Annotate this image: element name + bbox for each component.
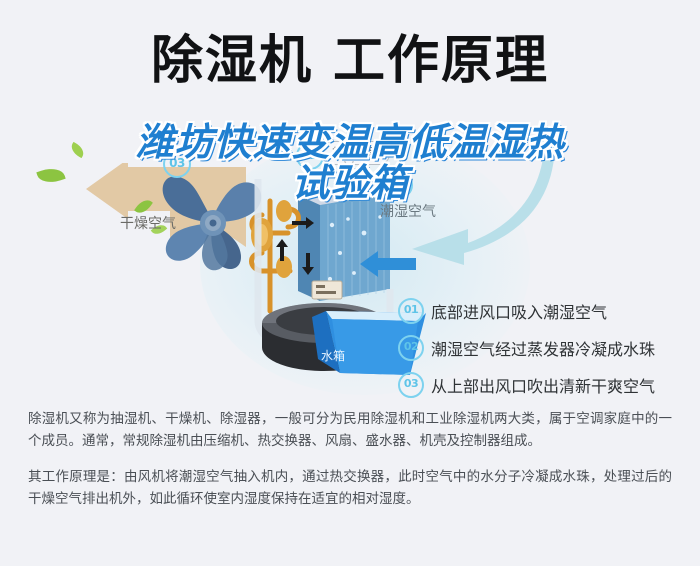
water-tank-label: 水箱 <box>321 347 345 364</box>
step-legend: 01 底部进风口吸入潮湿空气 02 潮湿空气经过蒸发器冷凝成水珠 03 从上部出… <box>398 292 698 403</box>
step-badge-03: 03 <box>163 150 191 178</box>
body-copy: 除湿机又称为抽湿机、干燥机、除湿器，一般可分为民用除湿机和工业除湿机两大类，属于… <box>0 408 700 510</box>
heat-exchanger-callout: 热交换器 <box>322 141 390 165</box>
legend-badge-02: 02 <box>398 335 424 361</box>
leaf-icon <box>69 142 87 158</box>
page-title: 除湿机 工作原理 <box>0 30 700 100</box>
callout-pointer-icon <box>344 161 354 173</box>
dry-air-label: 干燥空气 <box>120 213 176 233</box>
list-item: 03 从上部出风口吹出清新干爽空气 <box>398 366 698 403</box>
leaf-icon <box>36 164 65 186</box>
infographic-page: 除湿机 工作原理 <box>0 0 700 566</box>
step-badge-02: 02 <box>296 142 324 170</box>
legend-text-01: 底部进风口吸入潮湿空气 <box>431 299 607 323</box>
legend-badge-01: 01 <box>398 298 424 324</box>
legend-badge-03: 03 <box>398 372 424 398</box>
page-title-text: 除湿机 工作原理 <box>151 30 549 92</box>
legend-text-02: 潮湿空气经过蒸发器冷凝成水珠 <box>431 336 655 360</box>
list-item: 01 底部进风口吸入潮湿空气 <box>398 292 698 329</box>
moist-air-label: 潮湿空气 <box>380 201 436 221</box>
body-paragraph-2: 其工作原理是：由风机将潮湿空气抽入机内，通过热交换器，此时空气中的水分子冷凝成水… <box>28 466 672 510</box>
step-badge-01: 01 <box>385 171 413 199</box>
legend-text-03: 从上部出风口吹出清新干爽空气 <box>431 373 655 397</box>
list-item: 02 潮湿空气经过蒸发器冷凝成水珠 <box>398 329 698 366</box>
air-intake-arrow-icon <box>358 251 418 277</box>
body-paragraph-1: 除湿机又称为抽湿机、干燥机、除湿器，一般可分为民用除湿机和工业除湿机两大类，属于… <box>28 408 672 452</box>
